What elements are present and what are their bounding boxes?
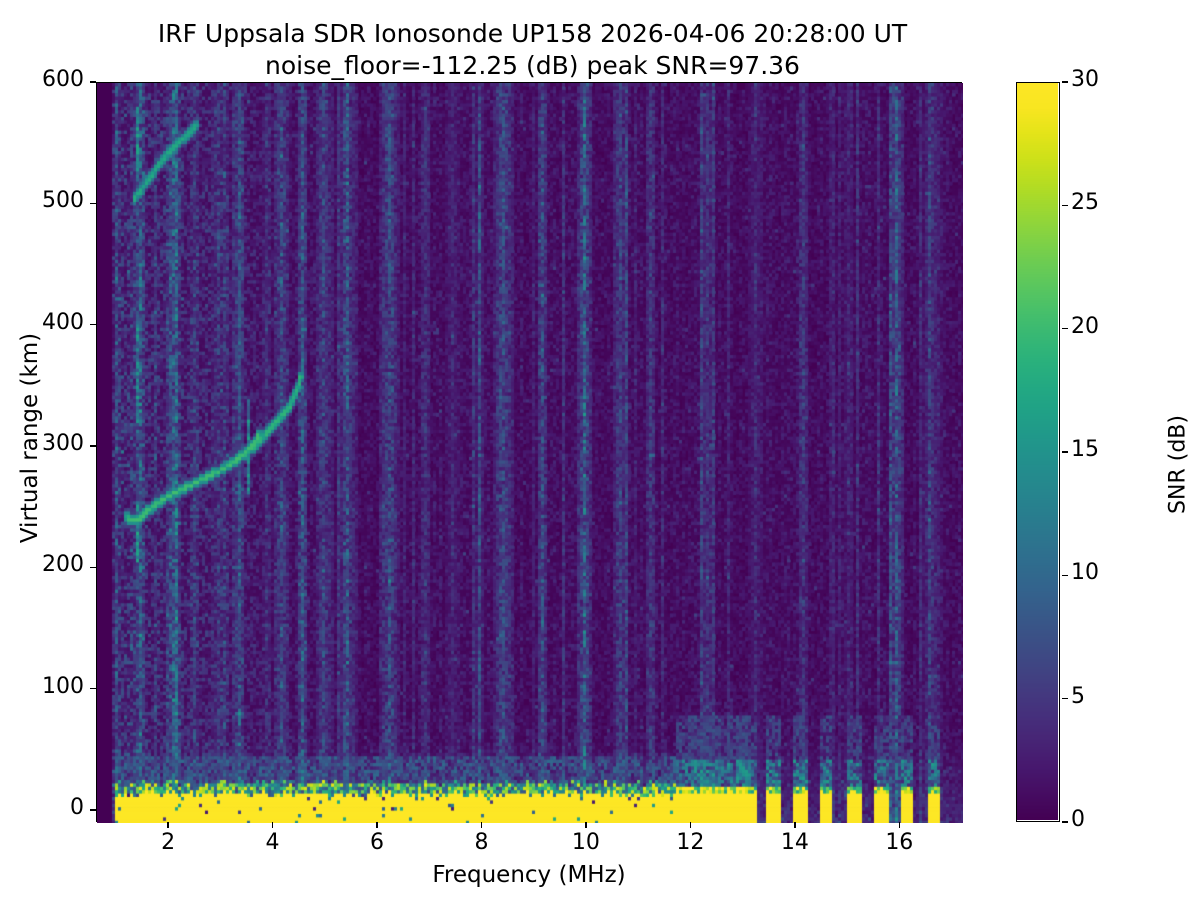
colorbar-tick-0 <box>1062 821 1068 822</box>
figure-title: IRF Uppsala SDR Ionosonde UP158 2026-04-… <box>0 18 1065 81</box>
colorbar-tick-label-20: 20 <box>1071 314 1099 339</box>
x-tick-label-14: 14 <box>755 830 835 855</box>
colorbar-tick-25 <box>1062 205 1068 206</box>
x-tick-8 <box>481 822 482 828</box>
y-tick-label-0: 0 <box>0 795 84 820</box>
x-tick-label-8: 8 <box>441 830 521 855</box>
colorbar-tick-label-10: 10 <box>1071 560 1099 585</box>
title-line-1: IRF Uppsala SDR Ionosonde UP158 2026-04-… <box>0 18 1065 50</box>
ionogram-figure: IRF Uppsala SDR Ionosonde UP158 2026-04-… <box>0 0 1200 900</box>
x-tick-10 <box>585 822 586 828</box>
colorbar-tick-label-5: 5 <box>1071 684 1085 709</box>
ionogram-heatmap-canvas <box>97 83 963 823</box>
colorbar-tick-30 <box>1062 81 1068 82</box>
x-tick-2 <box>167 822 168 828</box>
y-tick-label-100: 100 <box>0 674 84 699</box>
colorbar-tick-label-25: 25 <box>1071 190 1099 215</box>
y-tick-400 <box>90 324 96 325</box>
colorbar <box>1016 82 1060 822</box>
colorbar-tick-5 <box>1062 698 1068 699</box>
y-tick-500 <box>90 203 96 204</box>
x-tick-6 <box>376 822 377 828</box>
y-tick-label-500: 500 <box>0 188 84 213</box>
y-tick-label-300: 300 <box>0 431 84 456</box>
x-tick-14 <box>794 822 795 828</box>
x-axis-label: Frequency (MHz) <box>96 862 962 888</box>
y-tick-200 <box>90 567 96 568</box>
colorbar-tick-label-15: 15 <box>1071 437 1099 462</box>
x-tick-label-10: 10 <box>546 830 626 855</box>
y-tick-300 <box>90 445 96 446</box>
y-tick-label-400: 400 <box>0 310 84 335</box>
x-tick-label-12: 12 <box>650 830 730 855</box>
y-tick-label-200: 200 <box>0 552 84 577</box>
colorbar-tick-label-30: 30 <box>1071 67 1099 92</box>
x-tick-16 <box>899 822 900 828</box>
title-line-2: noise_floor=-112.25 (dB) peak SNR=97.36 <box>0 50 1065 82</box>
colorbar-label: SNR (dB) <box>1166 95 1191 835</box>
x-tick-label-16: 16 <box>859 830 939 855</box>
x-tick-label-4: 4 <box>233 830 313 855</box>
x-tick-label-6: 6 <box>337 830 417 855</box>
y-tick-0 <box>90 809 96 810</box>
y-tick-600 <box>90 81 96 82</box>
ionogram-plot-area[interactable] <box>96 82 962 822</box>
x-tick-label-2: 2 <box>128 830 208 855</box>
y-tick-label-600: 600 <box>0 67 84 92</box>
y-tick-100 <box>90 688 96 689</box>
x-tick-12 <box>690 822 691 828</box>
colorbar-tick-10 <box>1062 575 1068 576</box>
colorbar-gradient <box>1017 83 1058 820</box>
colorbar-tick-label-0: 0 <box>1071 807 1085 832</box>
x-tick-4 <box>272 822 273 828</box>
colorbar-tick-15 <box>1062 451 1068 452</box>
colorbar-tick-20 <box>1062 328 1068 329</box>
